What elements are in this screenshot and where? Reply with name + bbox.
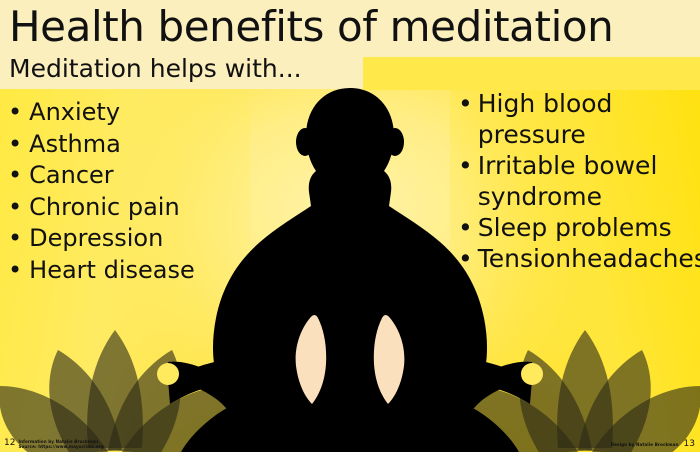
list-item-label: Chronic pain (29, 192, 180, 224)
bullet-icon: • (8, 129, 22, 161)
bullet-icon: • (8, 255, 22, 287)
list-item-label: Sleep problems (478, 212, 672, 243)
list-item: • Tensionheadaches (458, 243, 700, 274)
bullet-icon: • (458, 88, 473, 119)
list-item: • Depression (8, 223, 195, 255)
bullet-icon: • (458, 212, 473, 243)
list-item: • Asthma (8, 129, 195, 161)
list-item-label: Cancer (29, 160, 114, 192)
list-item-label: Asthma (29, 129, 121, 161)
list-item: • Chronic pain (8, 192, 195, 224)
list-item-label: Irritable bowel syndrome (478, 150, 658, 212)
bullet-icon: • (8, 97, 22, 129)
slide-health-benefits-of-meditation: Health benefits of meditation Meditation… (0, 0, 700, 452)
page-subtitle: Meditation helps with... (9, 54, 302, 84)
list-item: • High blood pressure (458, 88, 700, 150)
design-credit: Design by Natalie Brockman (611, 442, 679, 447)
list-item: • Cancer (8, 160, 195, 192)
list-item-label: Tensionheadaches (478, 243, 700, 274)
benefits-list-left: • Anxiety • Asthma • Cancer • Chronic pa… (8, 97, 195, 286)
footer-credit-left: 12 Information by Natalie Brockman Sourc… (4, 439, 104, 449)
page-number-right: 13 (684, 440, 695, 449)
bullet-icon: • (458, 243, 473, 274)
source-credit: Information by Natalie Brockman Source: … (18, 439, 104, 449)
list-item-label: Anxiety (29, 97, 120, 129)
footer-credit-right: Design by Natalie Brockman 13 (611, 440, 695, 449)
list-item-label: High blood pressure (478, 88, 613, 150)
list-item: • Irritable bowel syndrome (458, 150, 700, 212)
bullet-icon: • (458, 150, 473, 181)
list-item-label: Heart disease (29, 255, 195, 287)
list-item-label: Depression (29, 223, 163, 255)
list-item: • Sleep problems (458, 212, 700, 243)
bullet-icon: • (8, 160, 22, 192)
list-item: • Anxiety (8, 97, 195, 129)
page-number-left: 12 (4, 439, 15, 448)
credit-line-2: Source: https://www.mayoclinic.org (18, 444, 104, 449)
benefits-list-right: • High blood pressure • Irritable bowel … (458, 88, 700, 274)
list-item: • Heart disease (8, 255, 195, 287)
bullet-icon: • (8, 192, 22, 224)
bullet-icon: • (8, 223, 22, 255)
page-title: Health benefits of meditation (9, 4, 613, 50)
